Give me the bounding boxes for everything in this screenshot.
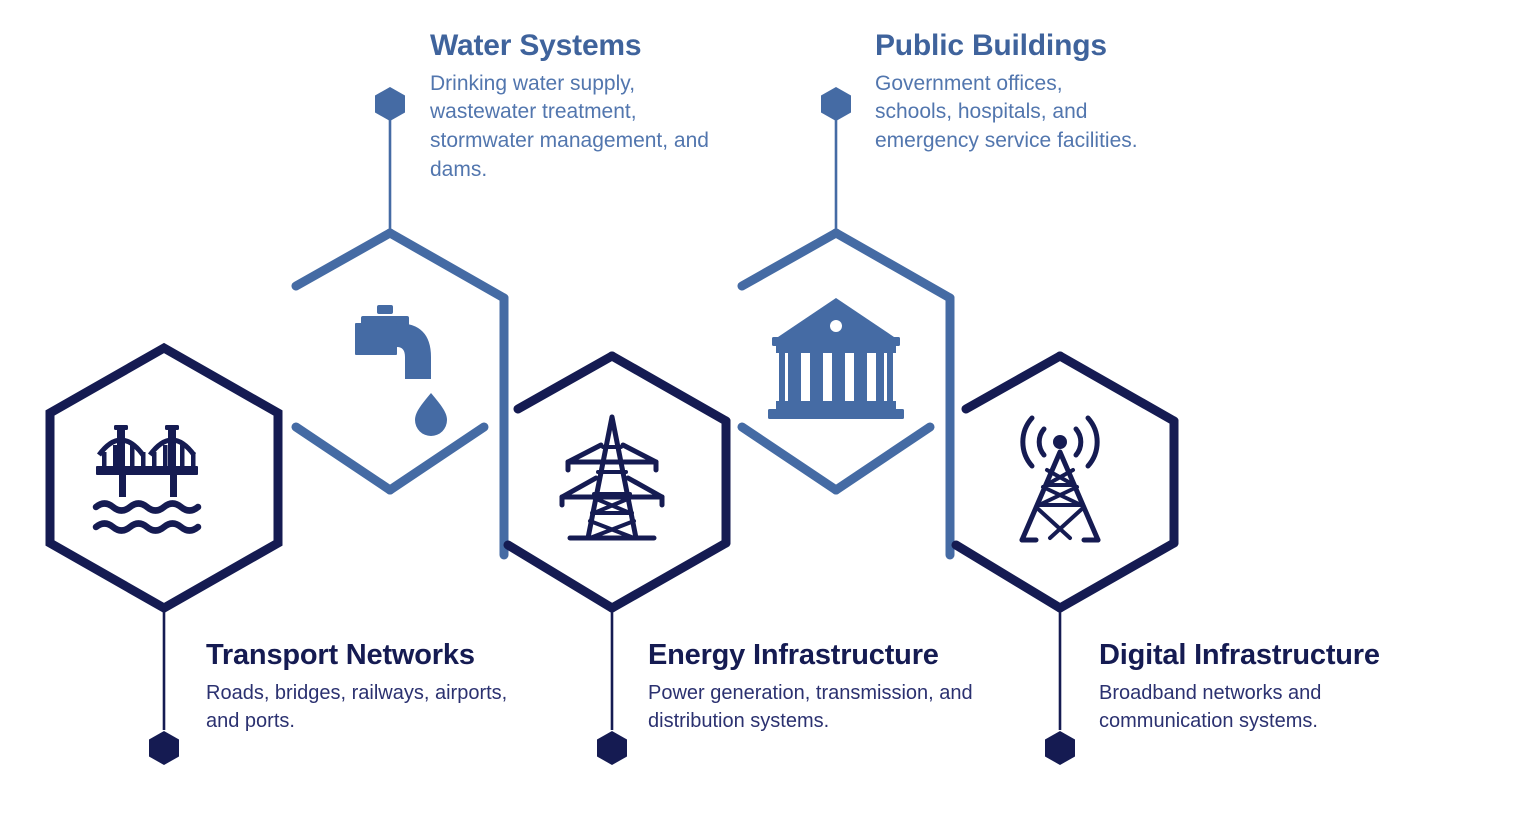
callout-desc-digital: Broadband networks and communication sys… — [1099, 680, 1459, 735]
hexagon-outline-transport — [50, 348, 278, 608]
hexagon-edge-energy-ul — [518, 356, 612, 409]
hexagon-edge-energy-ur — [612, 356, 726, 421]
hexagon-edge-water-lr — [390, 427, 484, 490]
callout-public: Public Buildings Government offices, sch… — [875, 30, 1145, 156]
callout-desc-energy: Power generation, transmission, and dist… — [648, 680, 998, 735]
hexagon-edge-digital-lr — [1060, 543, 1174, 608]
connector-marker-public — [821, 87, 851, 121]
hexagon-edge-public-ur — [836, 233, 950, 298]
callout-desc-public: Government offices, schools, hospitals, … — [875, 70, 1145, 157]
hexagon-edge-water-ll — [296, 427, 390, 490]
callout-transport: Transport Networks Roads, bridges, railw… — [206, 640, 536, 736]
hexagon-edge-digital-ul — [966, 356, 1060, 409]
infographic-canvas: Water Systems Drinking water supply, was… — [0, 0, 1524, 816]
callout-desc-water: Drinking water supply, wastewater treatm… — [430, 70, 720, 186]
callout-title-public: Public Buildings — [875, 30, 1145, 62]
hexagon-edge-water-ul — [296, 233, 390, 286]
hexagon-edge-energy-lr — [612, 543, 726, 608]
callout-digital: Digital Infrastructure Broadband network… — [1099, 640, 1459, 736]
callout-energy: Energy Infrastructure Power generation, … — [648, 640, 998, 736]
hexagon-edge-public-ul — [742, 233, 836, 286]
connector-marker-energy — [597, 731, 627, 765]
hexagon-edge-water-ur — [390, 233, 504, 298]
hexagon-edge-public-lr — [836, 427, 930, 490]
power-pylon-icon — [562, 417, 662, 538]
callout-desc-transport: Roads, bridges, railways, airports, and … — [206, 680, 536, 735]
faucet-icon — [355, 305, 447, 436]
hexagon-edge-energy-ll — [508, 545, 612, 608]
bridge-icon — [96, 425, 198, 531]
hexagon-edge-digital-ur — [1060, 356, 1174, 421]
callout-title-transport: Transport Networks — [206, 640, 536, 670]
hex-group-public — [742, 87, 950, 555]
hexagon-edge-digital-ll — [956, 545, 1060, 608]
connector-marker-transport — [149, 731, 179, 765]
connector-marker-water — [375, 87, 405, 121]
connector-marker-digital — [1045, 731, 1075, 765]
bank-building-icon — [768, 298, 904, 419]
callout-title-water: Water Systems — [430, 30, 720, 62]
hexagon-edge-public-ll — [742, 427, 836, 490]
callout-title-digital: Digital Infrastructure — [1099, 640, 1459, 670]
radio-tower-icon — [1022, 418, 1098, 540]
callout-title-energy: Energy Infrastructure — [648, 640, 998, 670]
callout-water: Water Systems Drinking water supply, was… — [430, 30, 720, 185]
